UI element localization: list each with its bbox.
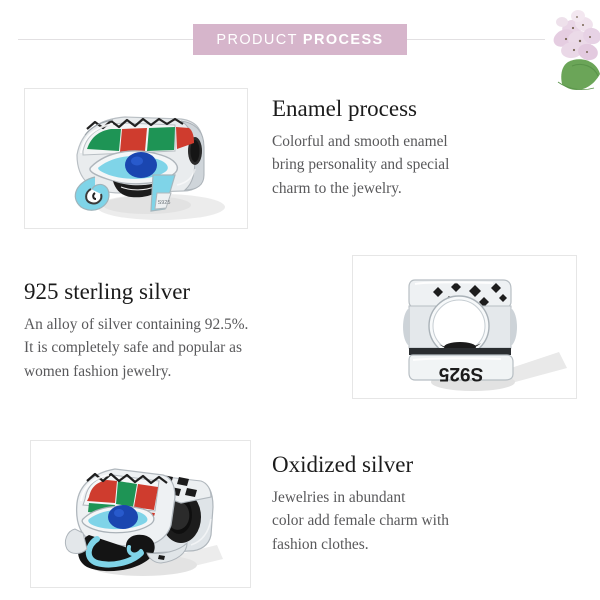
- body-line: It is completely safe and popular as: [24, 336, 299, 359]
- section-body: Colorful and smooth enamel bring persona…: [272, 130, 522, 199]
- body-line: An alloy of silver containing 92.5%.: [24, 313, 299, 336]
- body-line: bring personality and special: [272, 153, 522, 176]
- header-rule-left: [18, 39, 193, 40]
- flower-sprig-icon: [528, 0, 600, 100]
- banner-label-light: PRODUCT: [216, 32, 298, 48]
- header-rule-right: [407, 39, 545, 40]
- body-line: Jewelries in abundant: [272, 486, 532, 509]
- s925-hallmark-charm-photo: S925: [352, 255, 577, 399]
- product-process-banner: PRODUCT PROCESS: [193, 24, 407, 55]
- section-925-sterling-silver: 925 sterling silver An alloy of silver c…: [24, 279, 299, 383]
- body-line: women fashion jewelry.: [24, 360, 299, 383]
- body-line: fashion clothes.: [272, 533, 532, 556]
- body-line: color add female charm with: [272, 509, 532, 532]
- section-heading: Enamel process: [272, 96, 522, 121]
- svg-text:S925: S925: [158, 200, 171, 206]
- body-line: charm to the jewelry.: [272, 177, 522, 200]
- section-oxidized-silver: Oxidized silver Jewelries in abundant co…: [272, 452, 532, 556]
- section-enamel-process: Enamel process Colorful and smooth ename…: [272, 96, 522, 200]
- body-line: Colorful and smooth enamel: [272, 130, 522, 153]
- oxidized-silver-charm-photo: [30, 440, 251, 588]
- section-body: An alloy of silver containing 92.5%. It …: [24, 313, 299, 382]
- section-heading: Oxidized silver: [272, 452, 532, 477]
- section-body: Jewelries in abundant color add female c…: [272, 486, 532, 555]
- eye-of-horus-enamel-charm-photo: S925: [24, 88, 248, 229]
- banner-label-bold: PROCESS: [303, 32, 384, 48]
- page-header: PRODUCT PROCESS: [0, 0, 600, 78]
- section-heading: 925 sterling silver: [24, 279, 299, 304]
- hallmark-text: S925: [438, 363, 483, 384]
